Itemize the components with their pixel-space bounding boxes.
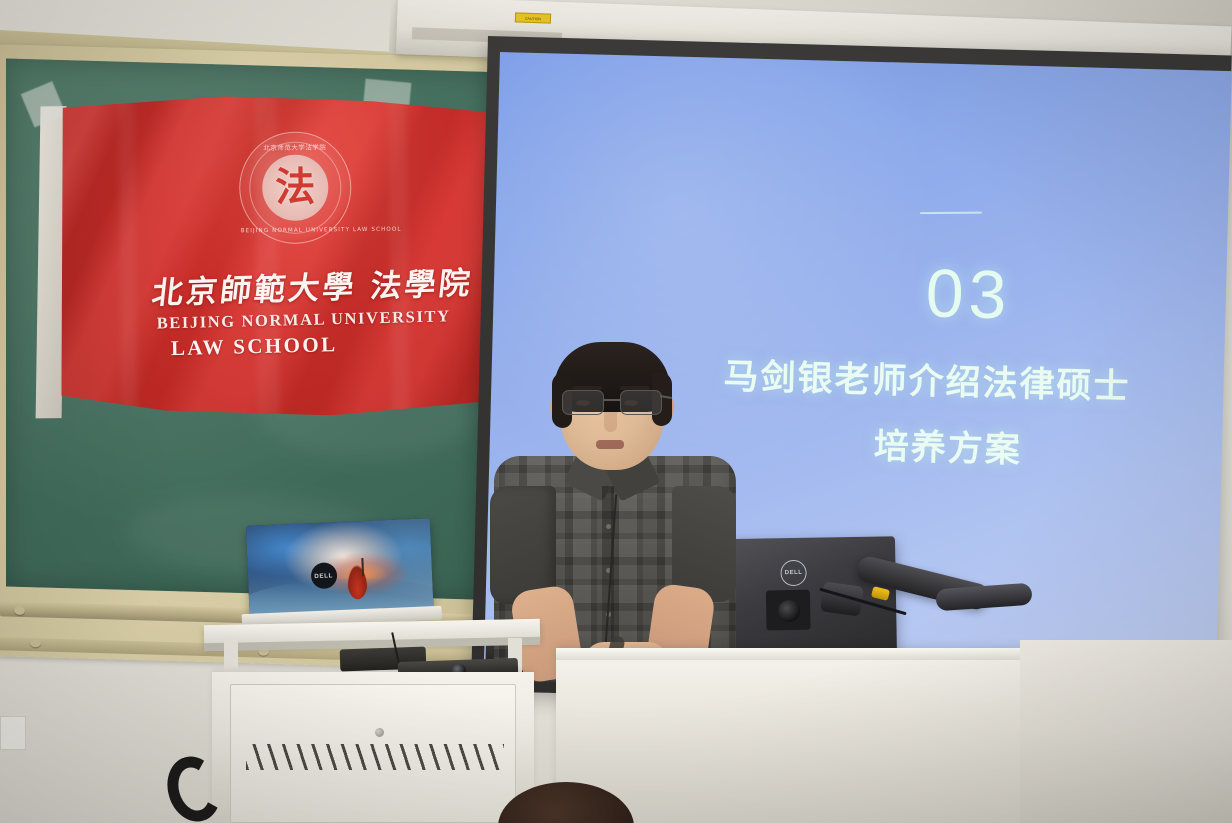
seal-character: 法: [275, 167, 315, 207]
shirt-sleeve-left: [490, 486, 556, 604]
banner-chinese-university: 北京師範大學: [150, 269, 358, 311]
mouth: [596, 440, 624, 449]
lectern-counter: [556, 648, 1076, 823]
wall-outlet-plate: [0, 716, 26, 750]
banner-chinese-school: 法學院: [369, 266, 475, 305]
slide-title-line1: 马剑银老师介绍法律硕士: [723, 348, 1131, 410]
cabinet-vent-slots: [246, 744, 504, 770]
banner-english-line2: LAW SCHOOL: [171, 332, 338, 361]
slide-accent-line: [920, 212, 982, 215]
dell-logo-text: DELL: [785, 570, 803, 576]
nose: [604, 412, 617, 432]
caution-label: CAUTION: [515, 12, 551, 23]
cabinet-lock-icon[interactable]: [375, 728, 384, 737]
glasses-bridge: [604, 399, 620, 401]
dell-laptop: DELL: [246, 518, 434, 630]
banner-assembly: 北京师范大学法学院 BEIJING NORMAL UNIVERSITY LAW …: [34, 94, 499, 421]
law-school-seal: 北京师范大学法学院 BEIJING NORMAL UNIVERSITY LAW …: [239, 131, 352, 244]
seal-arc-bottom-text: BEIJING NORMAL UNIVERSITY LAW SCHOOL: [241, 227, 351, 234]
counter-right-section: [1020, 640, 1232, 823]
lectern-counter-edge: [556, 648, 1076, 660]
banner-chinese-text: 北京師範大學法學院: [150, 268, 484, 309]
slide-number: 03: [925, 259, 1012, 329]
seal-arc-top-text: 北京师范大学法学院: [240, 142, 350, 152]
classroom-photo: 北京师范大学法学院 BEIJING NORMAL UNIVERSITY LAW …: [0, 0, 1232, 823]
av-podium-cabinet: [212, 672, 534, 823]
lens-right: [620, 390, 662, 415]
lens-left: [562, 390, 604, 415]
laptop-brand-text: DELL: [314, 572, 333, 580]
shirt-sleeve-right: [672, 486, 736, 602]
bnu-law-school-banner: 北京师范大学法学院 BEIJING NORMAL UNIVERSITY LAW …: [58, 94, 497, 419]
seal-center: 法: [262, 154, 329, 221]
laptop-lid: DELL: [246, 518, 434, 618]
slide-title-line2: 培养方案: [873, 418, 1022, 473]
